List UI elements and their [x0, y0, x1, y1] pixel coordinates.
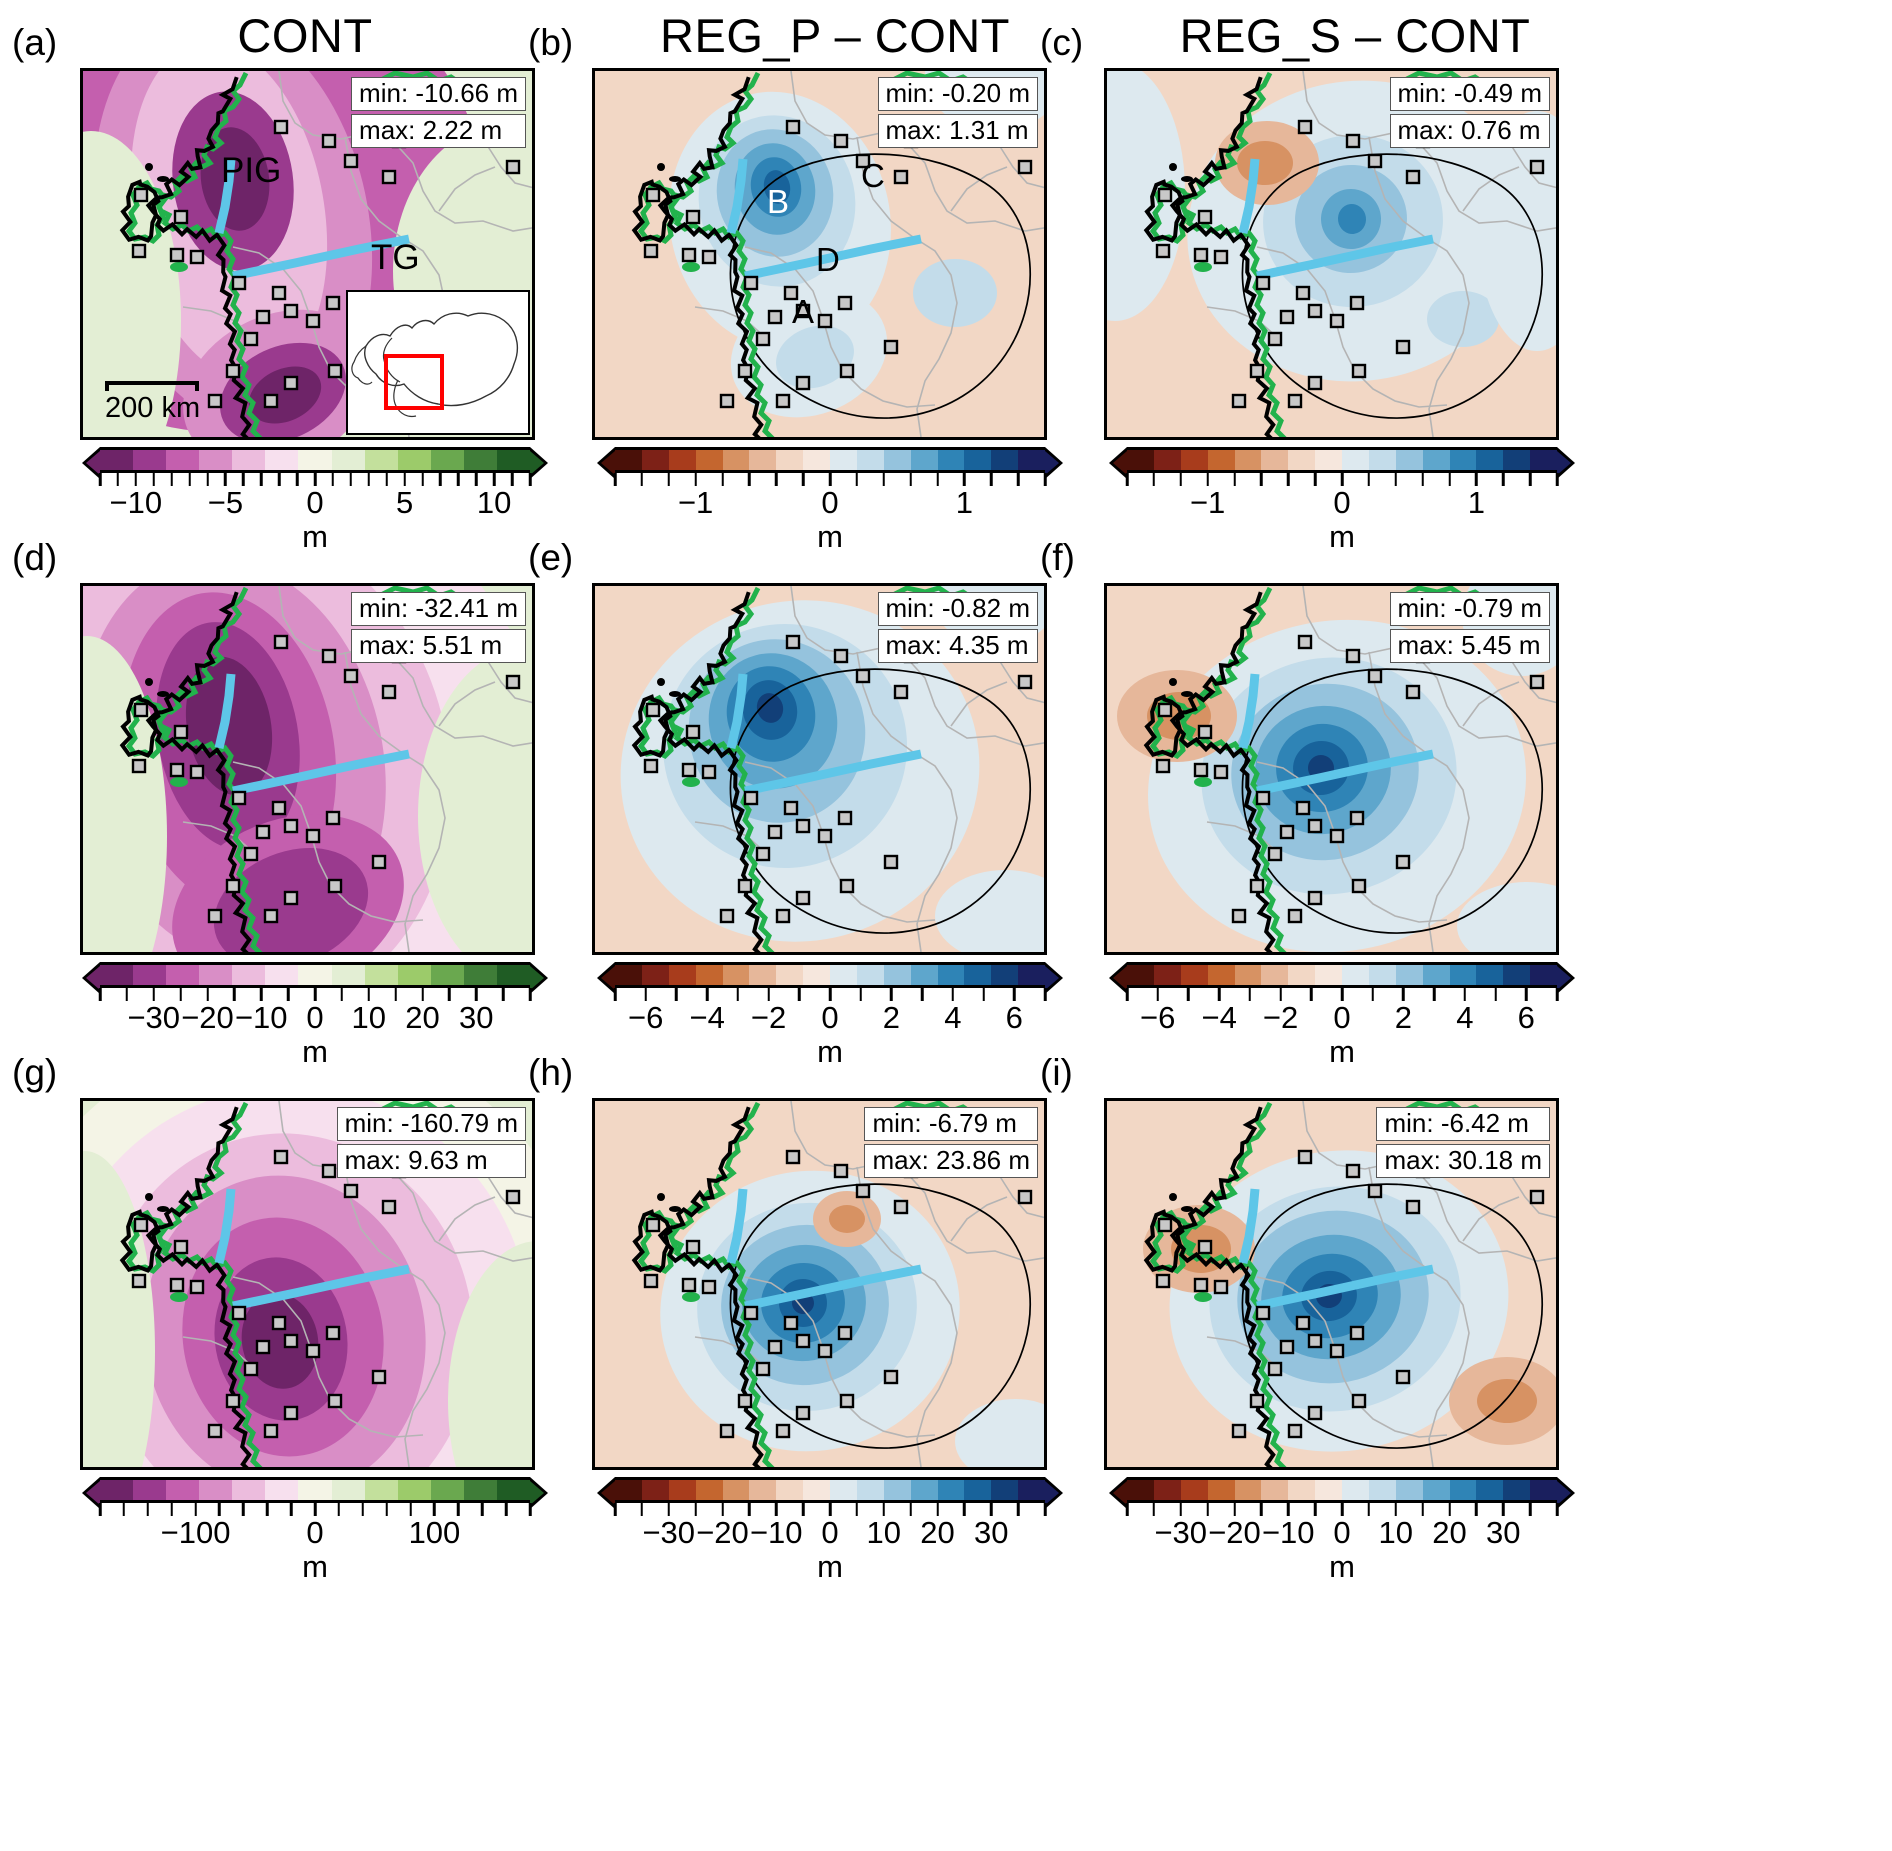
colorbar-swatch — [166, 1480, 199, 1500]
max-value-e: max: 4.35 m — [878, 629, 1039, 663]
colorbar-swatch — [431, 965, 464, 985]
column-title-reg-s: REG_S – CONT — [1095, 8, 1615, 63]
colorbar-tick-label: −30 — [642, 1515, 695, 1551]
colorbar-swatch — [1018, 450, 1045, 470]
colorbar-tick — [1126, 988, 1129, 1001]
colorbar-cb-h: −30−20−100102030m — [615, 1477, 1045, 1585]
colorbar-tick-label: 10 — [867, 1515, 901, 1551]
colorbar-tick-label: 10 — [1379, 1515, 1413, 1551]
colorbar-tick-label: −2 — [751, 1000, 786, 1036]
colorbar-swatch — [100, 965, 133, 985]
colorbar-swatch — [642, 1480, 669, 1500]
map-panel-f: min: -0.79 mmax: 5.45 m — [1104, 583, 1559, 955]
colorbar-swatch — [265, 965, 298, 985]
colorbar-min-arrow — [1109, 962, 1127, 994]
colorbar-swatch — [1018, 1480, 1045, 1500]
colorbar-tick — [1044, 473, 1047, 486]
colorbar-swatch — [332, 1480, 365, 1500]
colorbar-tick-label: 30 — [459, 1000, 493, 1036]
colorbar-tick-label: 10 — [477, 485, 511, 521]
colorbar-tick — [385, 1503, 388, 1516]
colorbar-tick — [1249, 988, 1252, 1001]
colorbar-swatch — [669, 965, 696, 985]
colorbar-unit-label: m — [100, 519, 530, 555]
colorbar-swatch — [938, 450, 965, 470]
colorbar-max-arrow — [1557, 1477, 1575, 1509]
colorbar-swatch — [232, 965, 265, 985]
colorbar-swatch — [1503, 965, 1530, 985]
colorbar-tick-labels: −6−4−20246 — [1127, 1002, 1557, 1038]
colorbar-unit-label: m — [1127, 519, 1557, 555]
colorbar-tick — [362, 1503, 365, 1516]
colorbar-tick — [1314, 473, 1317, 486]
colorbar-tick — [748, 473, 751, 486]
colorbar-cb-f: −6−4−20246m — [1127, 962, 1557, 1070]
colorbar-tick — [529, 988, 532, 1001]
colorbar-tick — [1502, 473, 1505, 486]
colorbar-tick-label: 10 — [352, 1000, 386, 1036]
region-label-b: B — [767, 183, 789, 221]
colorbar-swatch — [265, 1480, 298, 1500]
colorbar-tick — [290, 1503, 293, 1516]
colorbar-tick — [859, 988, 862, 1001]
colorbar-tick-label: 30 — [974, 1515, 1008, 1551]
colorbar-tick — [1556, 988, 1559, 1001]
colorbar-swatch — [615, 965, 642, 985]
map-panel-i: min: -6.42 mmax: 30.18 m — [1104, 1098, 1559, 1470]
minmax-box-h: min: -6.79 mmax: 23.86 m — [864, 1107, 1038, 1178]
colorbar-swatch — [1235, 1480, 1262, 1500]
colorbar-tick — [856, 473, 859, 486]
colorbar-swatch — [1423, 965, 1450, 985]
colorbar-tick-label: 0 — [1333, 1515, 1350, 1551]
colorbar-tick — [883, 473, 886, 486]
colorbar-tick-labels: −30−20−100102030 — [615, 1517, 1045, 1553]
colorbar-swatch — [1181, 450, 1208, 470]
colorbar-tick-labels: −101 — [1127, 487, 1557, 523]
colorbar-swatch — [1181, 965, 1208, 985]
colorbar-swatch — [1342, 450, 1369, 470]
colorbar-swatch — [830, 1480, 857, 1500]
colorbar-min-arrow — [597, 447, 615, 479]
colorbar-tick — [296, 473, 299, 486]
colorbar-tick-label: 0 — [1333, 1000, 1350, 1036]
colorbar-swatch — [830, 965, 857, 985]
min-value-d: min: -32.41 m — [351, 592, 526, 626]
colorbar-tick — [982, 988, 985, 1001]
colorbar-swatch — [1154, 450, 1181, 470]
panel-letter-f: (f) — [1040, 537, 1075, 579]
colorbar-swatch — [911, 1480, 938, 1500]
colorbar-unit-label: m — [615, 1549, 1045, 1585]
colorbar-max-arrow — [1045, 962, 1063, 994]
min-value-f: min: -0.79 m — [1390, 592, 1551, 626]
figure-root: CONT REG_P – CONT REG_S – CONT 1950 - 20… — [0, 0, 1892, 1851]
colorbar-max-arrow — [530, 1477, 548, 1509]
colorbar-tick-label: −4 — [689, 1000, 724, 1036]
colorbar-swatch — [830, 450, 857, 470]
panel-letter-a: (a) — [12, 22, 57, 64]
colorbar-tick-label: −6 — [1140, 1000, 1175, 1036]
colorbar-unit-label: m — [1127, 1034, 1557, 1070]
colorbar-tick — [802, 473, 805, 486]
colorbar-tick — [1494, 988, 1497, 1001]
colorbar-tick-label: −20 — [1208, 1515, 1261, 1551]
map-panel-h: min: -6.79 mmax: 23.86 m — [592, 1098, 1047, 1470]
colorbar-unit-label: m — [615, 1034, 1045, 1070]
scale-bar: 200 km — [105, 381, 200, 425]
colorbar-tick — [641, 473, 644, 486]
colorbar-tick-label: 5 — [396, 485, 413, 521]
colorbar-max-arrow — [530, 447, 548, 479]
colorbar-tick-labels: −10−50510 — [100, 487, 530, 523]
map-panel-g: min: -160.79 mmax: 9.63 m — [80, 1098, 535, 1470]
colorbar-min-arrow — [82, 1477, 100, 1509]
colorbar-tick — [921, 988, 924, 1001]
colorbar-swatch — [669, 450, 696, 470]
min-value-g: min: -160.79 m — [337, 1107, 526, 1141]
colorbar-swatch — [1369, 450, 1396, 470]
colorbar-tick — [242, 1503, 245, 1516]
min-value-c: min: -0.49 m — [1390, 77, 1551, 111]
colorbar-tick — [1395, 473, 1398, 486]
colorbar-swatch — [100, 450, 133, 470]
colorbar-tick — [529, 1503, 532, 1516]
colorbar-tick — [1448, 473, 1451, 486]
colorbar-tick — [481, 1503, 484, 1516]
colorbar-swatch — [1503, 1480, 1530, 1500]
colorbar-swatch — [1476, 450, 1503, 470]
colorbar-tick — [1421, 1503, 1424, 1516]
colorbar-tick — [1287, 473, 1290, 486]
colorbar-tick — [341, 988, 344, 1001]
colorbar-tick — [439, 473, 442, 486]
colorbar-swatch — [332, 965, 365, 985]
colorbar-tick — [421, 473, 424, 486]
colorbar-tick — [188, 473, 191, 486]
colorbar-tick — [614, 988, 617, 1001]
colorbar-unit-label: m — [1127, 1549, 1557, 1585]
colorbar-tick-label: 4 — [944, 1000, 961, 1036]
colorbar-tick — [457, 473, 460, 486]
colorbar-tick — [529, 473, 532, 486]
colorbar-tick — [775, 473, 778, 486]
minmax-box-a: min: -10.66 mmax: 2.22 m — [351, 77, 526, 148]
colorbar-tick-labels: −30−20−100102030 — [1127, 1517, 1557, 1553]
panel-letter-b: (b) — [528, 22, 573, 64]
panel-letter-h: (h) — [528, 1052, 573, 1094]
colorbar-tick-label: −6 — [628, 1000, 663, 1036]
max-value-i: max: 30.18 m — [1376, 1144, 1550, 1178]
colorbar-swatch — [265, 450, 298, 470]
colorbar-max-arrow — [1557, 447, 1575, 479]
colorbar-swatch — [1450, 450, 1477, 470]
colorbar-swatch — [166, 965, 199, 985]
colorbar-tick-label: 20 — [405, 1000, 439, 1036]
colorbar-swatch — [1315, 965, 1342, 985]
colorbar-min-arrow — [1109, 1477, 1127, 1509]
colorbar-tick — [1187, 988, 1190, 1001]
minmax-box-i: min: -6.42 mmax: 30.18 m — [1376, 1107, 1550, 1178]
minmax-box-f: min: -0.79 mmax: 5.45 m — [1390, 592, 1551, 663]
antarctica-inset-map — [346, 290, 530, 435]
colorbar-tick-label: −2 — [1263, 1000, 1298, 1036]
map-panel-a: min: -10.66 mmax: 2.22 mPIGTG200 km — [80, 68, 535, 440]
colorbar-swatch — [857, 450, 884, 470]
colorbar-gradient — [615, 1477, 1045, 1503]
colorbar-swatch — [133, 450, 166, 470]
colorbar-tick-label: 20 — [1432, 1515, 1466, 1551]
colorbar-swatch — [464, 1480, 497, 1500]
colorbar-tick — [1017, 1503, 1020, 1516]
colorbar-swatch — [749, 965, 776, 985]
colorbar-swatch — [669, 1480, 696, 1500]
colorbar-swatch — [1423, 450, 1450, 470]
colorbar-tick — [394, 988, 397, 1001]
colorbar-tick — [332, 473, 335, 486]
glacier-label-pig: PIG — [221, 151, 281, 191]
colorbar-tick — [170, 473, 173, 486]
colorbar-swatch — [1476, 965, 1503, 985]
colorbar-tick-label: 0 — [821, 1000, 838, 1036]
region-label-d: D — [816, 241, 840, 279]
colorbar-tick — [1126, 473, 1129, 486]
colorbar-cb-e: −6−4−20246m — [615, 962, 1045, 1070]
colorbar-swatch — [884, 965, 911, 985]
colorbar-tick-label: 100 — [409, 1515, 461, 1551]
colorbar-tick-label: 0 — [306, 1515, 323, 1551]
colorbar-swatch — [642, 450, 669, 470]
colorbar-swatch — [1127, 450, 1154, 470]
colorbar-swatch — [1127, 1480, 1154, 1500]
colorbar-swatch — [723, 965, 750, 985]
map-panel-c: min: -0.49 mmax: 0.76 m — [1104, 68, 1559, 440]
colorbar-swatch — [133, 965, 166, 985]
colorbar-swatch — [642, 965, 669, 985]
colorbar-swatch — [100, 1480, 133, 1500]
colorbar-tick-label: 6 — [1006, 1000, 1023, 1036]
colorbar-unit-label: m — [100, 1549, 530, 1585]
colorbar-max-arrow — [1045, 1477, 1063, 1509]
colorbar-tick — [1556, 473, 1559, 486]
colorbar-tick — [1180, 473, 1183, 486]
colorbar-tick-label: 30 — [1486, 1515, 1520, 1551]
colorbar-swatch — [696, 450, 723, 470]
colorbar-swatch — [365, 450, 398, 470]
colorbar-tick — [1044, 988, 1047, 1001]
colorbar-tick — [260, 473, 263, 486]
colorbar-tick-label: −10 — [750, 1515, 803, 1551]
colorbar-tick — [147, 1503, 150, 1516]
colorbar-tick — [1529, 473, 1532, 486]
colorbar-tick — [99, 988, 102, 1001]
colorbar-swatch — [1154, 1480, 1181, 1500]
colorbar-swatch — [298, 1480, 331, 1500]
colorbar-tick-label: 20 — [920, 1515, 954, 1551]
max-value-a: max: 2.22 m — [351, 114, 526, 148]
colorbar-swatch — [884, 450, 911, 470]
colorbar-tick — [266, 1503, 269, 1516]
colorbar-swatch — [696, 1480, 723, 1500]
row-label-1950-2050: 1950 - 2050 — [0, 70, 56, 440]
colorbar-swatch — [964, 965, 991, 985]
colorbar-gradient — [100, 447, 530, 473]
colorbar-min-arrow — [1109, 447, 1127, 479]
colorbar-tick-labels: −101 — [615, 487, 1045, 523]
min-value-i: min: -6.42 m — [1376, 1107, 1550, 1141]
colorbar-swatch — [1235, 450, 1262, 470]
column-title-reg-p: REG_P – CONT — [585, 8, 1085, 63]
colorbar-tick-label: 2 — [883, 1000, 900, 1036]
colorbar-swatch — [1235, 965, 1262, 985]
scale-bar-label: 200 km — [105, 392, 200, 425]
colorbar-tick — [1310, 988, 1313, 1001]
colorbar-swatch — [911, 450, 938, 470]
colorbar-min-arrow — [82, 962, 100, 994]
colorbar-swatch — [1127, 965, 1154, 985]
colorbar-swatch — [749, 1480, 776, 1500]
colorbar-tick — [338, 1503, 341, 1516]
colorbar-swatch — [1369, 965, 1396, 985]
colorbar-swatch — [1181, 1480, 1208, 1500]
colorbar-tick-label: −1 — [1190, 485, 1225, 521]
minmax-box-c: min: -0.49 mmax: 0.76 m — [1390, 77, 1551, 148]
colorbar-swatch — [298, 965, 331, 985]
colorbar-unit-label: m — [615, 519, 1045, 555]
colorbar-tick — [909, 1503, 912, 1516]
max-value-f: max: 5.45 m — [1390, 629, 1551, 663]
colorbar-swatch — [1018, 965, 1045, 985]
colorbar-tick-label: 0 — [306, 485, 323, 521]
colorbar-tick — [1529, 1503, 1532, 1516]
colorbar-tick-label: −5 — [208, 485, 243, 521]
colorbar-swatch — [199, 1480, 232, 1500]
colorbar-swatch — [938, 965, 965, 985]
colorbar-swatch — [199, 965, 232, 985]
colorbar-min-arrow — [597, 962, 615, 994]
colorbar-tick — [909, 473, 912, 486]
colorbar-swatch — [365, 1480, 398, 1500]
colorbar-gradient — [615, 447, 1045, 473]
map-panel-b: min: -0.20 mmax: 1.31 mBCDA — [592, 68, 1047, 440]
colorbar-swatch — [964, 450, 991, 470]
row-label-1950-2300: 1950 - 2300 — [0, 1100, 56, 1470]
colorbar-tick-label: 0 — [821, 1515, 838, 1551]
colorbar-tick — [737, 988, 740, 1001]
colorbar-swatch — [723, 450, 750, 470]
colorbar-tick-label: −100 — [161, 1515, 231, 1551]
colorbar-swatch — [1423, 1480, 1450, 1500]
colorbar-swatch — [1342, 1480, 1369, 1500]
colorbar-swatch — [431, 1480, 464, 1500]
colorbar-swatch — [991, 450, 1018, 470]
min-value-e: min: -0.82 m — [878, 592, 1039, 626]
colorbar-unit-label: m — [100, 1034, 530, 1070]
minmax-box-d: min: -32.41 mmax: 5.51 m — [351, 592, 526, 663]
colorbar-tick-label: −20 — [696, 1515, 749, 1551]
colorbar-tick-label: 1 — [1468, 485, 1485, 521]
colorbar-swatch — [776, 450, 803, 470]
colorbar-tick — [99, 473, 102, 486]
colorbar-swatch — [857, 965, 884, 985]
colorbar-swatch — [497, 965, 530, 985]
colorbar-gradient — [100, 962, 530, 988]
colorbar-cb-b: −101m — [615, 447, 1045, 555]
colorbar-swatch — [857, 1480, 884, 1500]
colorbar-tick — [1433, 988, 1436, 1001]
colorbar-tick-labels: −6−4−20246 — [615, 1002, 1045, 1038]
colorbar-tick — [123, 1503, 126, 1516]
colorbar-swatch — [464, 450, 497, 470]
colorbar-swatch — [497, 1480, 530, 1500]
colorbar-tick — [963, 1503, 966, 1516]
colorbar-tick — [1556, 1503, 1559, 1516]
colorbar-swatch — [749, 450, 776, 470]
max-value-c: max: 0.76 m — [1390, 114, 1551, 148]
colorbar-cb-a: −10−50510m — [100, 447, 530, 555]
scale-bar-line — [105, 381, 199, 391]
max-value-b: max: 1.31 m — [878, 114, 1039, 148]
colorbar-swatch — [1530, 1480, 1557, 1500]
colorbar-tick — [1368, 1503, 1371, 1516]
colorbar-tick — [278, 473, 281, 486]
colorbar-swatch — [696, 965, 723, 985]
colorbar-tick — [1475, 1503, 1478, 1516]
colorbar-swatch — [1396, 1480, 1423, 1500]
colorbar-tick — [1368, 473, 1371, 486]
colorbar-tick — [1017, 473, 1020, 486]
colorbar-max-arrow — [530, 962, 548, 994]
colorbar-tick — [1233, 473, 1236, 486]
colorbar-swatch — [332, 450, 365, 470]
colorbar-swatch — [199, 450, 232, 470]
panel-letter-g: (g) — [12, 1052, 57, 1094]
colorbar-swatch — [464, 965, 497, 985]
colorbar-tick — [1126, 1503, 1129, 1516]
colorbar-cb-d: −30−20−100102030m — [100, 962, 530, 1070]
colorbar-swatch — [1342, 965, 1369, 985]
colorbar-swatch — [938, 1480, 965, 1500]
map-panel-d: min: -32.41 mmax: 5.51 m — [80, 583, 535, 955]
colorbar-tick-label: 1 — [956, 485, 973, 521]
colorbar-swatch — [991, 965, 1018, 985]
colorbar-tick-label: 0 — [1333, 485, 1350, 521]
colorbar-swatch — [776, 1480, 803, 1500]
colorbar-min-arrow — [82, 447, 100, 479]
colorbar-swatch — [1288, 1480, 1315, 1500]
colorbar-swatch — [964, 1480, 991, 1500]
colorbar-swatch — [1450, 965, 1477, 985]
min-value-a: min: -10.66 m — [351, 77, 526, 111]
colorbar-tick — [936, 473, 939, 486]
colorbar-swatch — [1288, 965, 1315, 985]
colorbar-gradient — [615, 962, 1045, 988]
colorbar-tick — [614, 1503, 617, 1516]
colorbar-tick — [1153, 473, 1156, 486]
colorbar-min-arrow — [597, 1477, 615, 1509]
colorbar-swatch — [232, 1480, 265, 1500]
minmax-box-e: min: -0.82 mmax: 4.35 m — [878, 592, 1039, 663]
map-panel-e: min: -0.82 mmax: 4.35 m — [592, 583, 1047, 955]
colorbar-tick — [675, 988, 678, 1001]
colorbar-swatch — [1450, 1480, 1477, 1500]
colorbar-tick-label: −10 — [1262, 1515, 1315, 1551]
glacier-label-tg: TG — [371, 238, 420, 278]
colorbar-cb-c: −101m — [1127, 447, 1557, 555]
column-title-cont: CONT — [70, 8, 540, 63]
colorbar-tick-labels: −30−20−100102030 — [100, 1002, 530, 1038]
colorbar-swatch — [133, 1480, 166, 1500]
